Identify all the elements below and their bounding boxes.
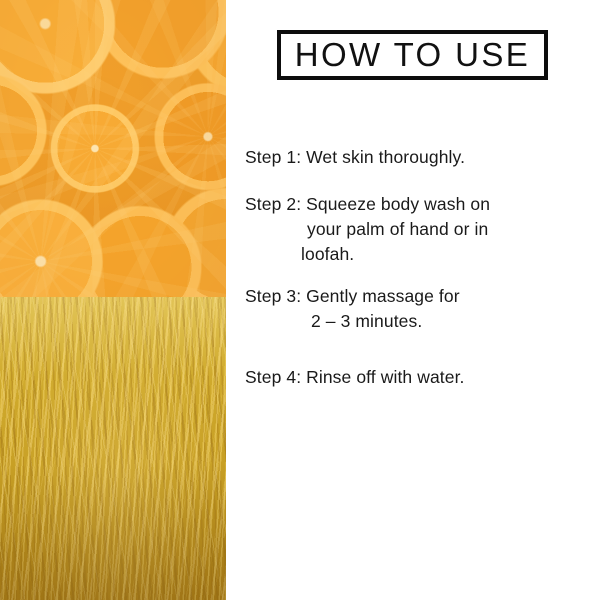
page-title: HOW TO USE	[295, 38, 530, 73]
lemongrass-image	[0, 297, 226, 600]
step-3-line-1: Step 3: Gently massage for	[245, 284, 575, 309]
title-box: HOW TO USE	[277, 30, 548, 80]
step-1-line-1: Step 1: Wet skin thoroughly.	[245, 145, 575, 170]
list-item-step-2: Step 2: Squeeze body wash on your palm o…	[245, 192, 575, 267]
orange-shading-layer	[0, 0, 226, 297]
list-item-step-4: Step 4: Rinse off with water.	[245, 365, 575, 390]
steps-list: Step 1: Wet skin thoroughly. Step 2: Squ…	[245, 145, 575, 390]
content-column: HOW TO USE Step 1: Wet skin thoroughly. …	[226, 0, 600, 600]
how-to-use-infographic: HOW TO USE Step 1: Wet skin thoroughly. …	[0, 0, 600, 600]
list-item-step-1: Step 1: Wet skin thoroughly.	[245, 145, 575, 170]
step-3-line-2: 2 – 3 minutes.	[245, 309, 575, 334]
list-item-step-3: Step 3: Gently massage for 2 – 3 minutes…	[245, 284, 575, 334]
lemongrass-shading-layer	[0, 297, 226, 600]
step-2-line-3: loofah.	[245, 242, 575, 267]
step-4-line-1: Step 4: Rinse off with water.	[245, 365, 575, 390]
orange-slices-image	[0, 0, 226, 297]
step-2-line-2: your palm of hand or in	[245, 217, 575, 242]
image-column	[0, 0, 226, 600]
step-2-line-1: Step 2: Squeeze body wash on	[245, 192, 575, 217]
